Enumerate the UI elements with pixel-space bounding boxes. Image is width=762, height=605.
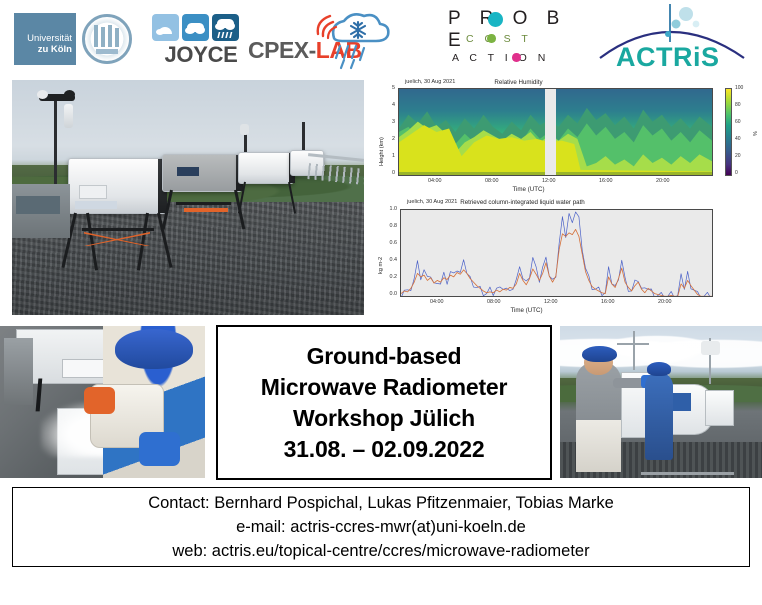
probe-wordmark: P R O B E (448, 8, 580, 52)
anemometer-cup-left (37, 90, 48, 99)
rh-data-gap (545, 89, 556, 175)
radiometer-unit-2 (162, 154, 242, 192)
cpex-lab-text-dark: CPEX- (248, 37, 316, 63)
rh-cbar-tick-80: 80 (735, 102, 741, 108)
title-line-2: Microwave Radiometer (261, 372, 508, 403)
rh-ytick-0: 0 (383, 170, 395, 176)
contact-line-web: web: actris.eu/topical-centre/ccres/micr… (172, 539, 589, 563)
action-wordmark: A C T I O N (452, 52, 549, 64)
lwp-ytick-08: 0.8 (379, 223, 397, 229)
lwp-ytick-06: 0.6 (379, 240, 397, 246)
lwp-ytick-02: 0.2 (379, 274, 397, 280)
lwp-site-label: juelich, 30 Aug 2021 (407, 199, 457, 205)
tech-person-front-cap (582, 346, 616, 363)
cpex-lab-logo: CPEX-LAB (248, 10, 398, 70)
rh-cbar-tick-0: 0 (735, 170, 738, 176)
charts-panel: Relative Humidity juelich, 30 Aug 2021 H… (375, 78, 762, 320)
logo-bar: Universität zu Köln (0, 0, 762, 76)
rh-xtick-1600: 16:00 (599, 178, 613, 184)
rh-xtick-0400: 04:00 (428, 178, 442, 184)
rh-cbar-tick-60: 60 (735, 119, 741, 125)
radiometer-label-1 (75, 201, 117, 209)
radiation-shield-icon (64, 104, 73, 128)
cloud-tile-icon (152, 14, 179, 41)
actris-logo: ACTRiS (592, 2, 752, 74)
lwp-plot-area (400, 209, 713, 297)
title-line-1: Ground-based (307, 341, 462, 372)
contact-line-names: Contact: Bernhard Pospichal, Lukas Pfitz… (148, 491, 614, 515)
title-line-4: 31.08. – 02.09.2022 (284, 434, 485, 465)
lwp-xtick-2000: 20:00 (658, 299, 672, 305)
contact-line-email: e-mail: actris-ccres-mwr(at)uni-koeln.de (236, 515, 526, 539)
lwp-chart-title: Retrieved column-integrated liquid water… (329, 199, 716, 206)
actris-wordmark: ACTRiS (616, 42, 720, 73)
rh-xtick-1200: 12:00 (542, 178, 556, 184)
title-box: Ground-based Microwave Radiometer Worksh… (216, 325, 552, 480)
rh-cbar-tick-20: 20 (735, 153, 741, 159)
rh-ytick-4: 4 (383, 102, 395, 108)
rh-cbar-tick-40: 40 (735, 136, 741, 142)
ln2-orange-glove (84, 387, 115, 414)
anemometer-cup-right (64, 90, 75, 99)
radiometer-unit-1 (68, 158, 166, 214)
radiometer-unit-3 (238, 152, 294, 184)
contact-box: Contact: Bernhard Pospichal, Lukas Pfitz… (12, 487, 750, 567)
rooftop-microwave-radiometers-photo (12, 80, 364, 315)
tech-instrument-logo-icon (673, 393, 691, 411)
lwp-xtick-1200: 12:00 (544, 299, 558, 305)
probe-cost-action-logo: P R O B E C O S T A C T I O N (440, 8, 580, 70)
liquid-water-path-chart: Retrieved column-integrated liquid water… (375, 198, 762, 320)
ln2-person-left (4, 338, 33, 405)
weather-mast (54, 96, 57, 192)
rain-cloud-tile-icon (212, 14, 239, 41)
lwp-ytick-00: 0.0 (379, 291, 397, 297)
probe-teal-dot-icon (488, 12, 503, 27)
rh-xtick-2000: 20:00 (656, 178, 670, 184)
rh-colorbar (725, 88, 732, 176)
uni-koeln-line1: Universität (17, 33, 72, 44)
tech-person-back-cap (647, 362, 671, 376)
university-of-cologne-logo: Universität zu Köln (14, 13, 142, 65)
building-window (16, 196, 60, 214)
radiometer-display-2 (177, 167, 199, 176)
uni-koeln-line2: zu Köln (17, 44, 72, 55)
lwp-x-axis-label: Time (UTC) (333, 307, 720, 314)
lwp-xtick-0400: 04:00 (430, 299, 444, 305)
orange-strap (184, 208, 228, 212)
tech-mast-crossarm (617, 343, 649, 345)
tech-person-back (645, 372, 673, 460)
poster-root: Universität zu Köln (0, 0, 762, 605)
uni-koeln-seal-figures (94, 25, 120, 55)
title-line-3: Workshop Jülich (293, 403, 475, 434)
lwp-ytick-10: 1.0 (379, 206, 397, 212)
joyce-logo: JOYCE (146, 14, 256, 66)
rh-ytick-3: 3 (383, 119, 395, 125)
joyce-weather-tiles (152, 14, 242, 41)
rh-site-label: juelich, 30 Aug 2021 (405, 79, 455, 85)
cost-wordmark: C O S T (466, 33, 532, 45)
rh-x-axis-label: Time (UTC) (335, 186, 722, 193)
rh-xtick-0800: 08:00 (485, 178, 499, 184)
uni-koeln-seal-icon (82, 14, 132, 64)
lwp-series-svg (401, 210, 713, 297)
rh-colorbar-label: % (753, 131, 759, 136)
lwp-xtick-0800: 08:00 (487, 299, 501, 305)
rh-plot-area (398, 88, 713, 176)
action-pink-dot-icon (512, 53, 521, 62)
tripod-crossbar (176, 202, 231, 205)
lwp-series-0 (401, 212, 713, 297)
uni-koeln-wordmark: Universität zu Köln (17, 33, 75, 55)
tech-person-front-trousers (576, 420, 620, 472)
rh-ytick-5: 5 (383, 85, 395, 91)
far-sensor-icon (240, 124, 249, 135)
tech-radiometer-3 (705, 390, 733, 426)
relative-humidity-chart: Relative Humidity juelich, 30 Aug 2021 H… (375, 78, 762, 196)
rh-ytick-1: 1 (383, 153, 395, 159)
lwp-ytick-04: 0.4 (379, 257, 397, 263)
tech-mast-1 (633, 331, 635, 371)
rh-cbar-tick-100: 100 (735, 85, 743, 91)
tech-railing (641, 472, 734, 475)
liquid-nitrogen-calibration-photo (0, 326, 205, 478)
tech-weather-sensor-icon (701, 341, 719, 355)
cost-green-dot-icon (487, 34, 496, 43)
instrument-handling-photo (560, 326, 762, 478)
cloud-radar-snow-icon (314, 8, 398, 70)
ln2-blue-glove (139, 432, 180, 465)
ln2-blue-helmet (115, 329, 193, 369)
cloudy-tile-icon (182, 14, 209, 41)
tripod-crossbar (82, 228, 154, 231)
joyce-wordmark: JOYCE (146, 42, 256, 68)
rh-ytick-2: 2 (383, 136, 395, 142)
radiometer-hatch-1 (79, 185, 107, 199)
lwp-xtick-1600: 16:00 (601, 299, 615, 305)
